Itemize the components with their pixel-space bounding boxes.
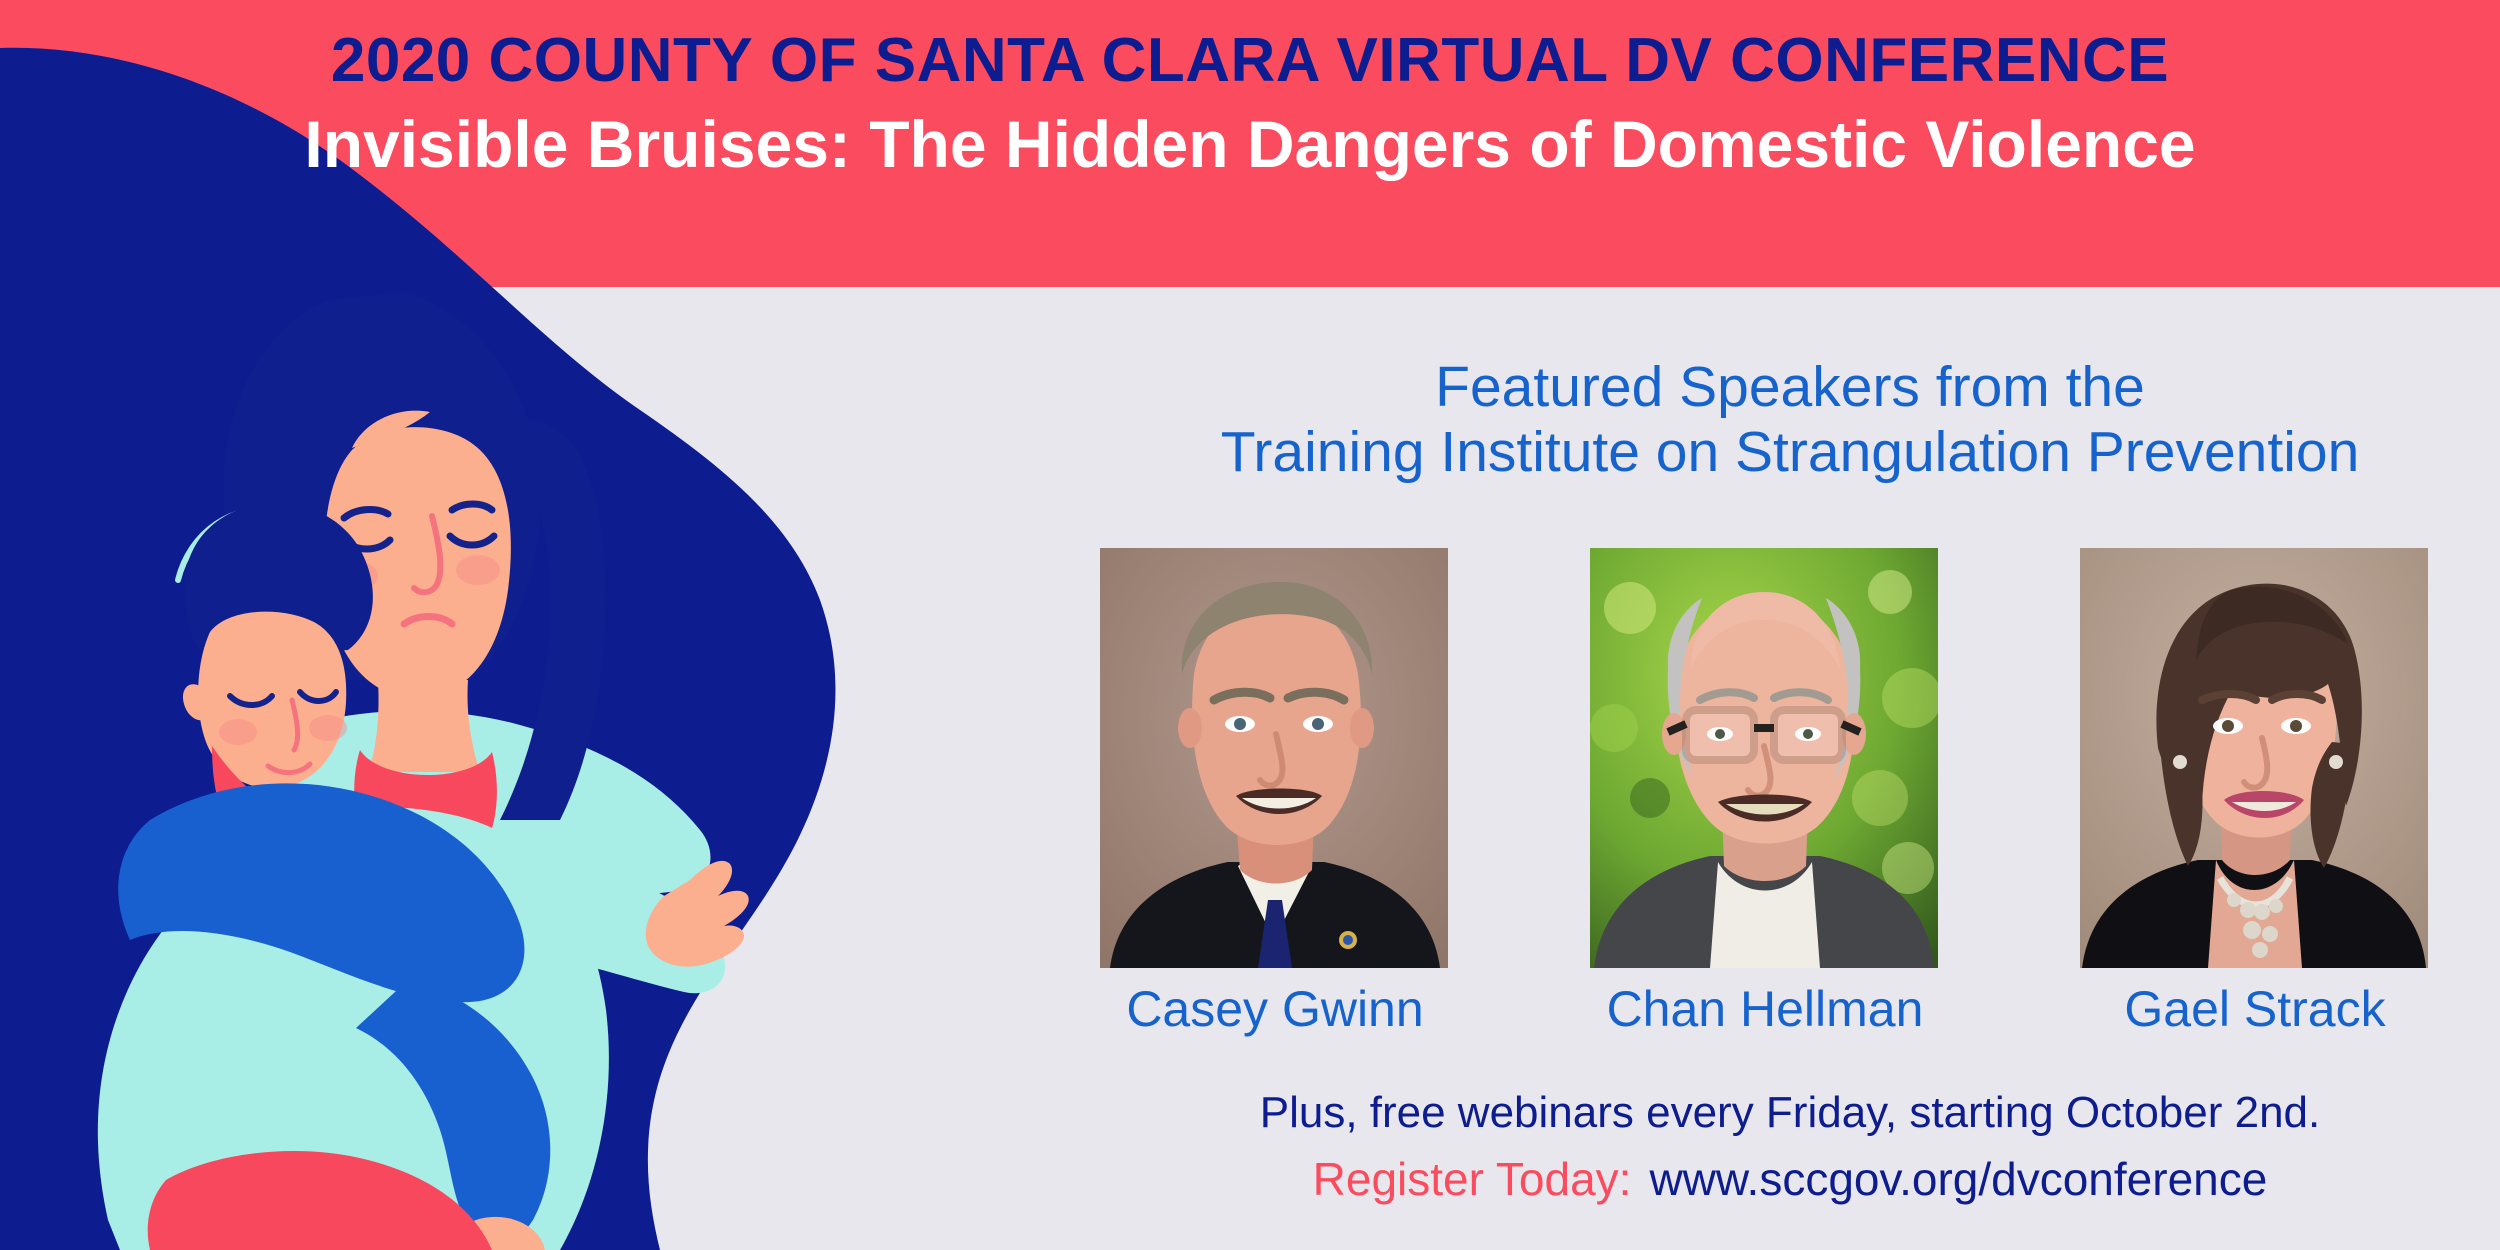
speaker-photo-casey-gwinn [1100, 548, 1448, 968]
speaker-name-0: Casey Gwinn [1100, 980, 1450, 1038]
register-line: Register Today:www.sccgov.org/dvconferen… [1090, 1152, 2490, 1206]
register-label: Register Today: [1313, 1153, 1632, 1205]
speaker-name-1: Chan Hellman [1590, 980, 1940, 1038]
speaker-card-1: Chan Hellman [1590, 548, 1940, 1038]
speaker-card-2: Gael Strack [2080, 548, 2430, 1038]
speakers-row: Casey Gwinn [1100, 548, 2430, 1038]
conference-banner: 2020 COUNTY OF SANTA CLARA VIRTUAL DV CO… [0, 0, 2500, 1250]
webinars-note: Plus, free webinars every Friday, starti… [1090, 1088, 2490, 1138]
page-title: 2020 COUNTY OF SANTA CLARA VIRTUAL DV CO… [0, 28, 2500, 93]
page-subtitle: Invisible Bruises: The Hidden Dangers of… [0, 108, 2500, 181]
speaker-photo-chan-hellman [1590, 548, 1938, 968]
register-url[interactable]: www.sccgov.org/dvconference [1649, 1153, 2267, 1205]
speaker-photo-gael-strack [2080, 548, 2428, 968]
featured-line-1: Featured Speakers from the [1435, 355, 2145, 419]
speaker-name-2: Gael Strack [2080, 980, 2430, 1038]
speaker-card-0: Casey Gwinn [1100, 548, 1450, 1038]
featured-speakers-heading: Featured Speakers from the Training Inst… [1090, 355, 2490, 485]
mother-holding-child-illustration [0, 180, 760, 1250]
featured-line-2: Training Institute on Strangulation Prev… [1090, 420, 2490, 485]
